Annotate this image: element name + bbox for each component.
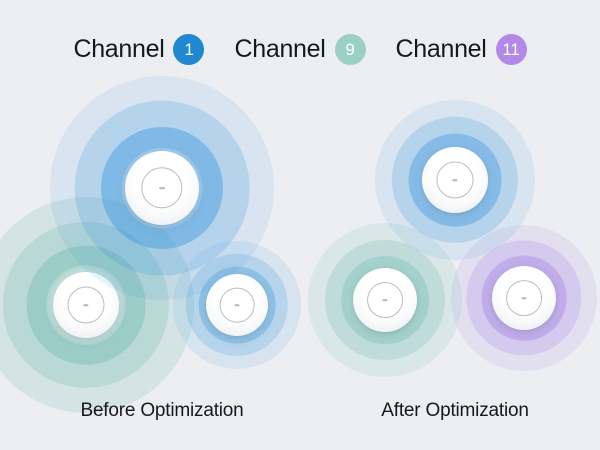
channel-badge-9: 9 bbox=[335, 34, 366, 65]
caption-after-optimization: After Optimization bbox=[381, 400, 528, 422]
channel-legend: Channel 1 Channel 9 Channel 11 bbox=[0, 28, 600, 70]
ap-before-blue-small-status-led-icon bbox=[235, 304, 240, 306]
ap-after-purple-status-led-icon bbox=[521, 297, 526, 299]
ap-before-blue-large-device[interactable] bbox=[125, 151, 199, 225]
ap-after-blue-status-led-icon bbox=[452, 179, 457, 181]
caption-before-optimization: Before Optimization bbox=[80, 400, 243, 422]
ap-before-green-status-led-icon bbox=[83, 304, 88, 306]
ap-before-blue-large-status-led-icon bbox=[159, 187, 165, 189]
legend-label-channel-9: Channel bbox=[234, 37, 325, 62]
legend-label-channel-11: Channel bbox=[396, 37, 487, 62]
ap-after-green-device[interactable] bbox=[353, 268, 417, 332]
legend-label-channel-1: Channel bbox=[73, 37, 164, 62]
legend-item-channel-9: Channel 9 bbox=[234, 34, 365, 65]
ap-after-blue-device[interactable] bbox=[422, 147, 488, 213]
channel-badge-1: 1 bbox=[173, 34, 204, 65]
legend-item-channel-11: Channel 11 bbox=[396, 34, 527, 65]
ap-before-blue-small[interactable] bbox=[173, 241, 301, 369]
legend-item-channel-1: Channel 1 bbox=[73, 34, 204, 65]
channel-badge-11: 11 bbox=[496, 34, 527, 65]
ap-after-green-status-led-icon bbox=[382, 299, 387, 301]
diagram-canvas: Channel 1 Channel 9 Channel 11 Before Op… bbox=[0, 0, 600, 450]
ap-after-blue[interactable] bbox=[375, 100, 535, 260]
ap-before-blue-small-device[interactable] bbox=[206, 274, 268, 336]
ap-after-purple-device[interactable] bbox=[492, 266, 556, 330]
